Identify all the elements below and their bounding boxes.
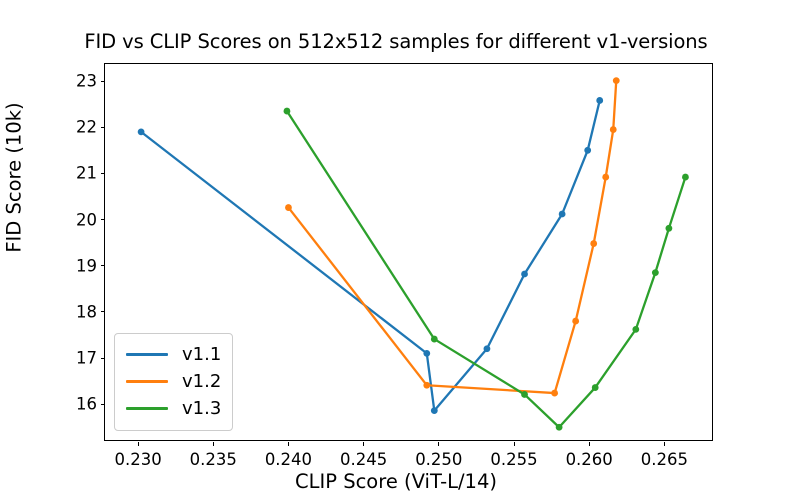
- x-axis-tick-label: 0.265: [629, 450, 699, 469]
- list-item: v1.2: [126, 368, 221, 395]
- data-point: [556, 424, 563, 431]
- data-point: [613, 77, 620, 84]
- data-point: [592, 384, 599, 391]
- figure-canvas: FID vs CLIP Scores on 512x512 samples fo…: [0, 0, 792, 504]
- x-axis-tick-mark: [288, 442, 289, 446]
- x-axis-tick-label: 0.245: [329, 450, 399, 469]
- y-axis-tick-label: 22: [53, 118, 97, 137]
- y-axis-title: FID Score (10k): [3, 28, 26, 328]
- x-axis-tick-label: 0.230: [103, 450, 173, 469]
- data-point: [484, 345, 491, 352]
- data-point: [431, 336, 438, 343]
- page-title: FID vs CLIP Scores on 512x512 samples fo…: [0, 30, 792, 53]
- x-axis-tick-mark: [438, 442, 439, 446]
- y-axis-tick-label: 20: [53, 210, 97, 229]
- y-axis-tick-label: 16: [53, 395, 97, 414]
- data-point: [632, 326, 639, 333]
- x-axis-tick-label: 0.235: [178, 450, 248, 469]
- y-axis-tick-label: 18: [53, 302, 97, 321]
- legend-label: v1.2: [182, 371, 221, 392]
- x-axis-tick-label: 0.260: [554, 450, 624, 469]
- x-axis-tick-label: 0.255: [479, 450, 549, 469]
- plot-area: 1617181920212223 0.2300.2350.2400.2450.2…: [104, 63, 713, 441]
- y-axis-tick-mark: [101, 173, 105, 174]
- data-point: [572, 318, 579, 325]
- data-point: [584, 147, 591, 154]
- list-item: v1.3: [126, 395, 221, 422]
- data-point: [431, 407, 438, 414]
- x-axis-title: CLIP Score (ViT-L/14): [0, 470, 792, 493]
- data-point: [285, 204, 292, 211]
- y-axis-tick-mark: [101, 81, 105, 82]
- data-point: [559, 211, 566, 218]
- data-point: [602, 174, 609, 181]
- y-axis-tick-mark: [101, 358, 105, 359]
- data-point: [284, 108, 291, 115]
- y-axis-tick-mark: [101, 219, 105, 220]
- legend-label: v1.1: [182, 344, 221, 365]
- y-axis-tick-label: 23: [53, 72, 97, 91]
- x-axis-tick-mark: [213, 442, 214, 446]
- data-point: [138, 128, 145, 135]
- x-axis-tick-label: 0.250: [404, 450, 474, 469]
- y-axis-tick-labels: 1617181920212223: [53, 64, 97, 442]
- x-axis-tick-mark: [589, 442, 590, 446]
- data-point: [521, 391, 528, 398]
- data-point: [423, 382, 430, 389]
- data-point: [665, 225, 672, 232]
- legend: v1.1 v1.2 v1.3: [114, 333, 233, 431]
- y-axis-tick-mark: [101, 127, 105, 128]
- series-line-v1-3: [287, 111, 685, 427]
- series-line-v1-2: [288, 81, 616, 393]
- data-point: [596, 97, 603, 104]
- x-axis-tick-mark: [664, 442, 665, 446]
- legend-swatch-v1-2: [126, 380, 168, 383]
- data-point: [590, 240, 597, 247]
- legend-swatch-v1-1: [126, 353, 168, 356]
- y-axis-tick-label: 21: [53, 164, 97, 183]
- legend-swatch-v1-3: [126, 407, 168, 410]
- y-axis-tick-mark: [101, 404, 105, 405]
- data-point: [610, 126, 617, 133]
- data-point: [551, 390, 558, 397]
- x-axis-tick-mark: [514, 442, 515, 446]
- list-item: v1.1: [126, 341, 221, 368]
- y-axis-tick-label: 19: [53, 256, 97, 275]
- x-axis-tick-label: 0.240: [253, 450, 323, 469]
- y-axis-tick-mark: [101, 265, 105, 266]
- legend-label: v1.3: [182, 398, 221, 419]
- y-axis-tick-mark: [101, 311, 105, 312]
- data-point: [682, 174, 689, 181]
- data-point: [423, 350, 430, 357]
- x-axis-tick-mark: [138, 442, 139, 446]
- data-point: [652, 269, 659, 276]
- y-axis-tick-label: 17: [53, 349, 97, 368]
- data-point: [521, 271, 528, 278]
- x-axis-tick-mark: [363, 442, 364, 446]
